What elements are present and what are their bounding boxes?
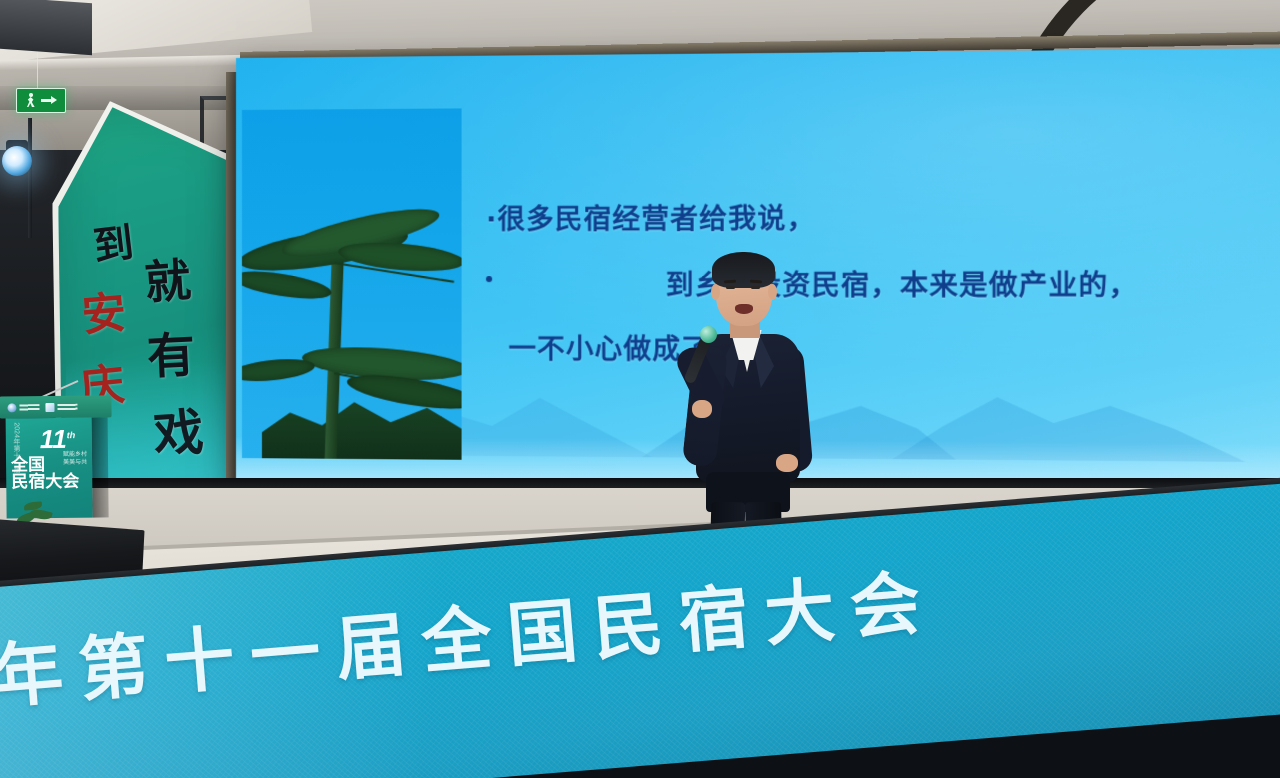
speaker-hair — [712, 252, 775, 288]
podium-title: 全国 民宿大会 — [11, 456, 79, 491]
podium-sponsor-strip — [0, 395, 112, 418]
slide-text-block: ·很多民宿经营者给我说， 到乡村投资民宿，本来是做产业的， 一不小心做成了事业。 — [476, 195, 1280, 370]
sponsor-logo-2 — [45, 402, 77, 411]
sponsor-wordmark — [19, 404, 39, 411]
microphone-head-icon — [700, 326, 717, 343]
conference-stage-photo: 到 安 庆 就 有 戏 — [0, 0, 1280, 778]
speaker-ear-left — [711, 284, 720, 300]
light-stand — [28, 118, 32, 238]
spotlight — [2, 146, 32, 176]
slogan-char-5: 有 — [146, 331, 196, 381]
arrow-right-icon — [41, 96, 57, 105]
sponsor-mark-icon — [7, 403, 16, 412]
speaker-left-hand — [692, 400, 712, 418]
podium-edition-number: 11th — [40, 426, 76, 452]
slide-line-1: ·很多民宿经营者给我说， — [486, 195, 1280, 237]
speaker-eye-right — [751, 286, 760, 289]
slogan-char-4: 就 — [143, 257, 192, 306]
slogan-char-6: 戏 — [152, 407, 205, 460]
pine-foliage — [242, 266, 333, 303]
speaker-ear-right — [768, 284, 777, 300]
podium-shadow — [92, 417, 109, 517]
pine-foliage — [337, 238, 461, 275]
stage-riser-left — [0, 0, 92, 55]
speaker-mouth — [735, 304, 753, 314]
sponsor-wordmark-2 — [57, 403, 77, 410]
slogan-char-1: 到 — [91, 223, 135, 267]
speaker-right-hand — [776, 454, 798, 472]
podium-title-line2: 民宿大会 — [11, 473, 79, 491]
exit-running-man-icon — [25, 93, 38, 108]
sponsor-mark-icon-2 — [45, 402, 54, 411]
exit-sign — [16, 88, 66, 113]
pine-tree-photo — [242, 108, 462, 459]
slide-line-3: 一不小心做成了事业。 — [508, 327, 1280, 370]
pine-foliage — [242, 356, 316, 384]
sponsor-logo-1 — [7, 403, 39, 412]
slogan-char-2: 安 — [80, 291, 128, 339]
slide-bullet-2 — [486, 276, 492, 282]
speaker-eye-left — [726, 286, 735, 289]
